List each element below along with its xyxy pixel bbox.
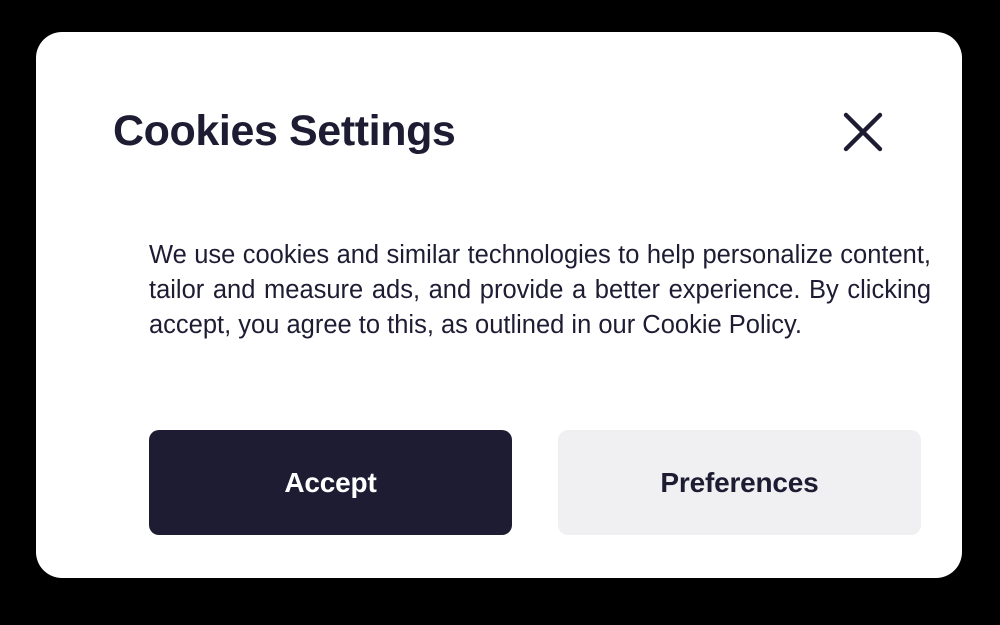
page-title: Cookies Settings bbox=[113, 104, 455, 158]
close-icon bbox=[842, 111, 884, 153]
dialog-actions: Accept Preferences bbox=[149, 430, 921, 535]
dialog-description: We use cookies and similar technologies … bbox=[149, 238, 931, 343]
preferences-button[interactable]: Preferences bbox=[558, 430, 921, 535]
accept-button[interactable]: Accept bbox=[149, 430, 512, 535]
close-button[interactable] bbox=[841, 110, 885, 154]
dialog-body: We use cookies and similar technologies … bbox=[149, 238, 931, 343]
screen-backdrop: Cookies Settings We use cookies and simi… bbox=[0, 0, 1000, 625]
cookies-settings-dialog: Cookies Settings We use cookies and simi… bbox=[36, 32, 962, 578]
dialog-header: Cookies Settings bbox=[113, 104, 885, 164]
